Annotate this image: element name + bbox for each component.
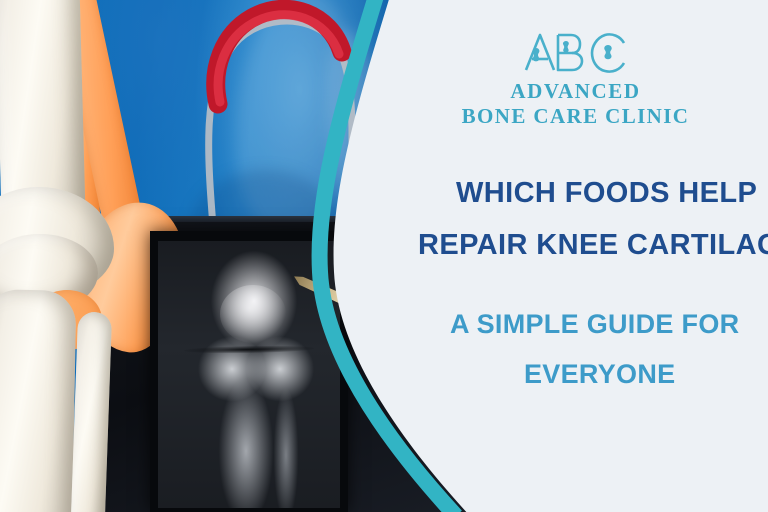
article-headline: WHICH FOODS HELP REPAIR KNEE CARTILAGE (418, 168, 768, 271)
joint-space-line (184, 345, 314, 354)
logo-name-line-2: BONE CARE CLINIC (383, 102, 768, 130)
article-header-banner: ADVANCED BONE CARE CLINIC WHICH FOODS HE… (0, 0, 768, 512)
article-subheadline: A SIMPLE GUIDE FOR EVERYONE (418, 300, 768, 400)
tibia-bone (0, 289, 76, 512)
fibula-bone (70, 311, 112, 512)
headline-line-2: REPAIR KNEE CARTILAGE (418, 220, 768, 272)
headline-line-1: WHICH FOODS HELP (456, 168, 768, 220)
xray-tablet-screen (150, 231, 348, 512)
knee-xray-image (158, 241, 340, 508)
subheadline-line-1: A SIMPLE GUIDE FOR (450, 300, 768, 350)
abc-bone-monogram-icon (520, 30, 632, 74)
subheadline-line-2: EVERYONE (524, 350, 768, 400)
clinic-logo: ADVANCED BONE CARE CLINIC (383, 30, 768, 130)
logo-name-line-1: ADVANCED (383, 80, 768, 102)
pointer-stylus-icon (291, 272, 340, 316)
patella-shadow (220, 285, 286, 343)
text-panel: ADVANCED BONE CARE CLINIC WHICH FOODS HE… (383, 0, 768, 512)
